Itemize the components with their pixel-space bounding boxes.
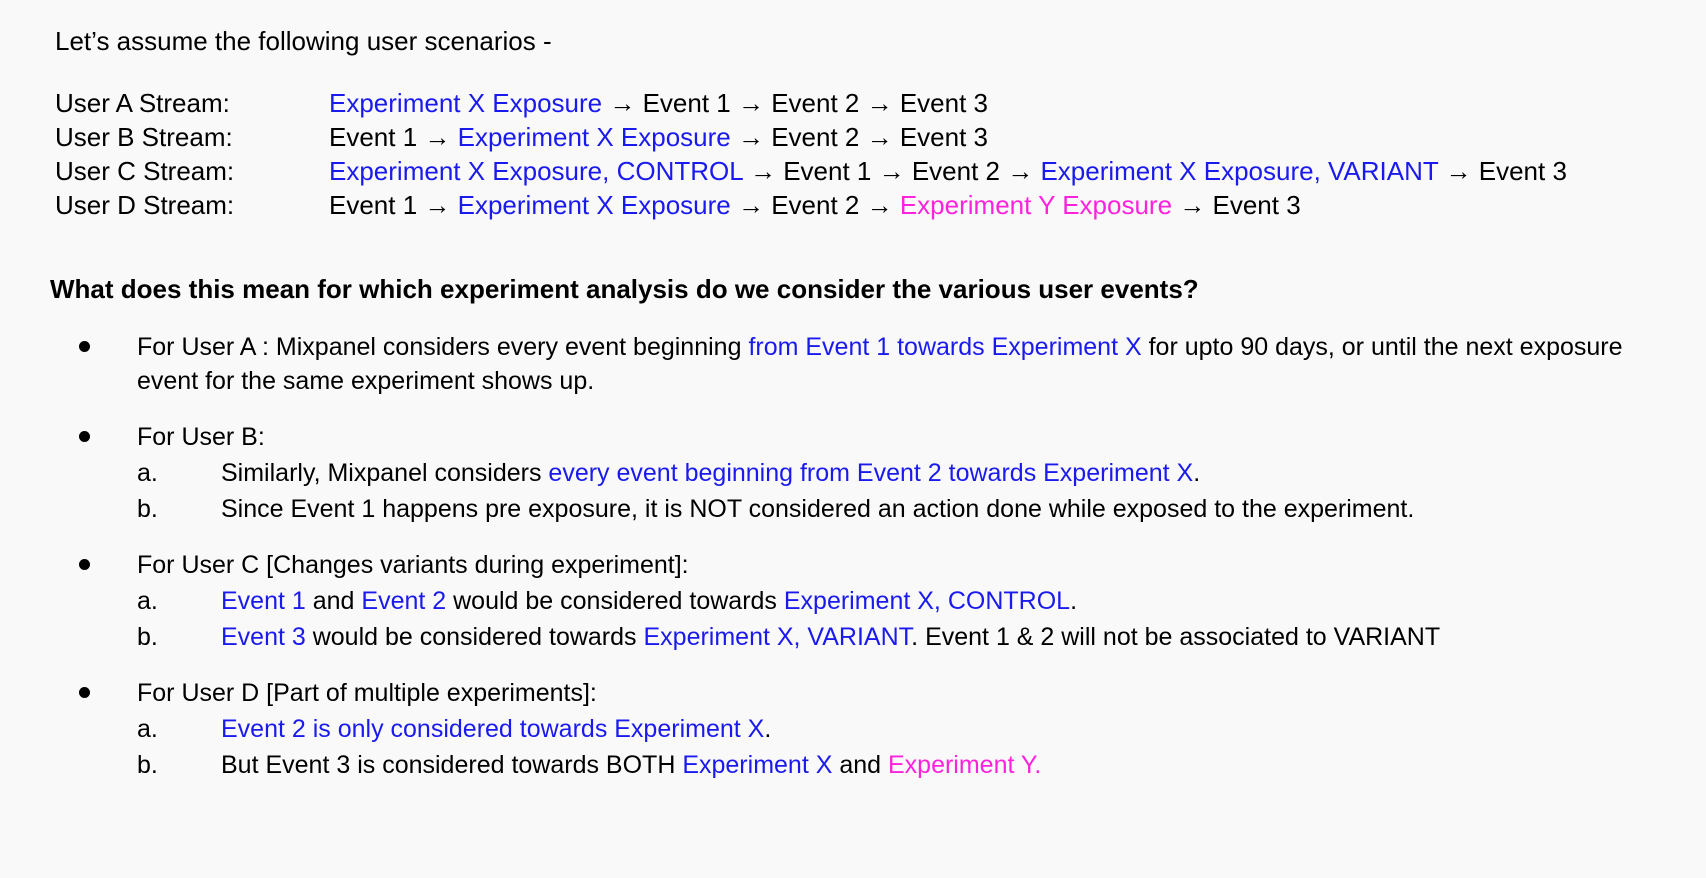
stream-segment: Experiment Y Exposure — [900, 190, 1172, 220]
sub-segment: Event 2 — [361, 587, 446, 615]
user-stream-row: User B Stream:Event 1 → Experiment X Exp… — [55, 120, 1567, 154]
sub-segment: Event 3 — [221, 623, 306, 651]
stream-segment: Event 2 — [771, 88, 859, 118]
stream-segment: Event 2 — [771, 190, 859, 220]
stream-segment: Event 1 — [329, 190, 417, 220]
stream-segment: Event 2 — [771, 122, 859, 152]
sub-list-item: a.Similarly, Mixpanel considers every ev… — [137, 456, 1655, 490]
bullet-segment: For User D [Part of multiple experiments… — [137, 679, 597, 707]
sub-segment: would be considered towards — [306, 623, 644, 651]
stream-segment: Experiment X Exposure, VARIANT — [1040, 156, 1438, 186]
user-stream-label: User D Stream: — [55, 188, 329, 222]
sub-list: a.Similarly, Mixpanel considers every ev… — [55, 456, 1655, 526]
stream-segment: → — [1172, 190, 1212, 220]
bullet-group-user-d: For User D [Part of multiple experiments… — [55, 676, 1655, 782]
analysis-bullet-list: For User A : Mixpanel considers every ev… — [55, 330, 1655, 804]
sub-segment: Similarly, Mixpanel considers — [221, 459, 548, 487]
bullet-text: For User D [Part of multiple experiments… — [137, 676, 1655, 710]
stream-segment: → — [731, 122, 771, 152]
section-question-heading: What does this mean for which experiment… — [50, 272, 1199, 306]
sub-list-marker: a. — [137, 584, 197, 618]
sub-list-item: a.Event 1 and Event 2 would be considere… — [137, 584, 1655, 618]
stream-segment: Event 3 — [900, 88, 988, 118]
sub-segment: would be considered towards — [446, 587, 784, 615]
user-stream-row: User D Stream:Event 1 → Experiment X Exp… — [55, 188, 1567, 222]
sub-segment: every event beginning from Event 2 towar… — [548, 459, 1193, 487]
bullet-group-user-b: For User B:a.Similarly, Mixpanel conside… — [55, 420, 1655, 526]
sub-list-marker: b. — [137, 620, 197, 654]
stream-segment: Experiment X Exposure — [458, 122, 731, 152]
stream-segment: Experiment X Exposure, CONTROL — [329, 156, 743, 186]
user-stream-row: User A Stream:Experiment X Exposure → Ev… — [55, 86, 1567, 120]
user-stream-label: User B Stream: — [55, 120, 329, 154]
sub-list-text: Event 1 and Event 2 would be considered … — [221, 587, 1077, 615]
sub-segment: Since Event 1 happens pre exposure, it i… — [221, 495, 1414, 523]
bullet-group-user-a: For User A : Mixpanel considers every ev… — [55, 330, 1655, 398]
sub-segment: . — [1070, 587, 1077, 615]
sub-segment: . — [1193, 459, 1200, 487]
stream-segment: → — [859, 122, 899, 152]
bullet-text: For User C [Changes variants during expe… — [137, 548, 1655, 582]
user-stream-label: User C Stream: — [55, 154, 329, 188]
stream-segment: → — [731, 190, 771, 220]
sub-list-text: Event 2 is only considered towards Exper… — [221, 715, 771, 743]
stream-segment: Event 1 — [783, 156, 871, 186]
sub-segment: Experiment X, VARIANT — [643, 623, 911, 651]
sub-list-item: b.But Event 3 is considered towards BOTH… — [137, 748, 1655, 782]
sub-list: a.Event 1 and Event 2 would be considere… — [55, 584, 1655, 654]
sub-segment: Event 2 is only considered towards Exper… — [221, 715, 764, 743]
bullet-item: For User A : Mixpanel considers every ev… — [55, 330, 1655, 398]
bullet-item: For User D [Part of multiple experiments… — [55, 676, 1655, 710]
user-stream-sequence: Event 1 → Experiment X Exposure → Event … — [329, 120, 988, 154]
sub-list-item: b.Event 3 would be considered towards Ex… — [137, 620, 1655, 654]
stream-segment: Experiment X Exposure — [329, 88, 602, 118]
sub-segment: . — [764, 715, 771, 743]
bullet-segment: For User C [Changes variants during expe… — [137, 551, 689, 579]
stream-segment: → — [1438, 156, 1478, 186]
user-stream-label: User A Stream: — [55, 86, 329, 120]
stream-segment: Event 1 — [643, 88, 731, 118]
stream-segment: Experiment X Exposure — [458, 190, 731, 220]
sub-list-marker: a. — [137, 456, 197, 490]
bullet-group-user-c: For User C [Changes variants during expe… — [55, 548, 1655, 654]
stream-segment: → — [859, 88, 899, 118]
sub-list-marker: b. — [137, 748, 197, 782]
stream-segment: → — [417, 190, 457, 220]
stream-segment: Event 3 — [1212, 190, 1300, 220]
sub-list-item: b.Since Event 1 happens pre exposure, it… — [137, 492, 1655, 526]
sub-segment: Experiment Y. — [888, 751, 1041, 779]
sub-segment: But Event 3 is considered towards BOTH — [221, 751, 682, 779]
document-page: Let’s assume the following user scenario… — [0, 0, 1706, 878]
sub-segment: and — [832, 751, 888, 779]
bullet-dot-icon — [79, 431, 90, 442]
sub-list: a.Event 2 is only considered towards Exp… — [55, 712, 1655, 782]
stream-segment: → — [871, 156, 911, 186]
intro-line: Let’s assume the following user scenario… — [55, 24, 552, 58]
stream-segment: Event 2 — [912, 156, 1000, 186]
bullet-segment: For User B: — [137, 423, 265, 451]
stream-segment: → — [417, 122, 457, 152]
sub-list-text: Similarly, Mixpanel considers every even… — [221, 459, 1200, 487]
sub-list-text: But Event 3 is considered towards BOTH E… — [221, 751, 1041, 779]
stream-segment: Event 1 — [329, 122, 417, 152]
bullet-item: For User C [Changes variants during expe… — [55, 548, 1655, 582]
bullet-dot-icon — [79, 341, 90, 352]
sub-segment: and — [306, 587, 362, 615]
sub-list-text: Since Event 1 happens pre exposure, it i… — [221, 495, 1414, 523]
bullet-text: For User B: — [137, 420, 1655, 454]
stream-segment: Event 3 — [1479, 156, 1567, 186]
stream-segment: → — [743, 156, 783, 186]
stream-segment: → — [731, 88, 771, 118]
user-streams-block: User A Stream:Experiment X Exposure → Ev… — [55, 86, 1567, 222]
bullet-dot-icon — [79, 687, 90, 698]
stream-segment: → — [859, 190, 899, 220]
sub-list-marker: b. — [137, 492, 197, 526]
bullet-segment: from Event 1 towards Experiment X — [748, 333, 1141, 361]
bullet-text: For User A : Mixpanel considers every ev… — [137, 330, 1655, 398]
bullet-segment: For User A : Mixpanel considers every ev… — [137, 333, 748, 361]
user-stream-sequence: Experiment X Exposure → Event 1 → Event … — [329, 86, 988, 120]
user-stream-sequence: Event 1 → Experiment X Exposure → Event … — [329, 188, 1301, 222]
sub-list-text: Event 3 would be considered towards Expe… — [221, 623, 1440, 651]
sub-segment: Experiment X, CONTROL — [784, 587, 1070, 615]
sub-list-marker: a. — [137, 712, 197, 746]
user-stream-row: User C Stream:Experiment X Exposure, CON… — [55, 154, 1567, 188]
stream-segment: → — [1000, 156, 1040, 186]
sub-segment: . Event 1 & 2 will not be associated to … — [911, 623, 1440, 651]
sub-segment: Experiment X — [682, 751, 832, 779]
stream-segment: → — [602, 88, 642, 118]
bullet-item: For User B: — [55, 420, 1655, 454]
stream-segment: Event 3 — [900, 122, 988, 152]
sub-list-item: a.Event 2 is only considered towards Exp… — [137, 712, 1655, 746]
bullet-dot-icon — [79, 559, 90, 570]
sub-segment: Event 1 — [221, 587, 306, 615]
user-stream-sequence: Experiment X Exposure, CONTROL → Event 1… — [329, 154, 1567, 188]
